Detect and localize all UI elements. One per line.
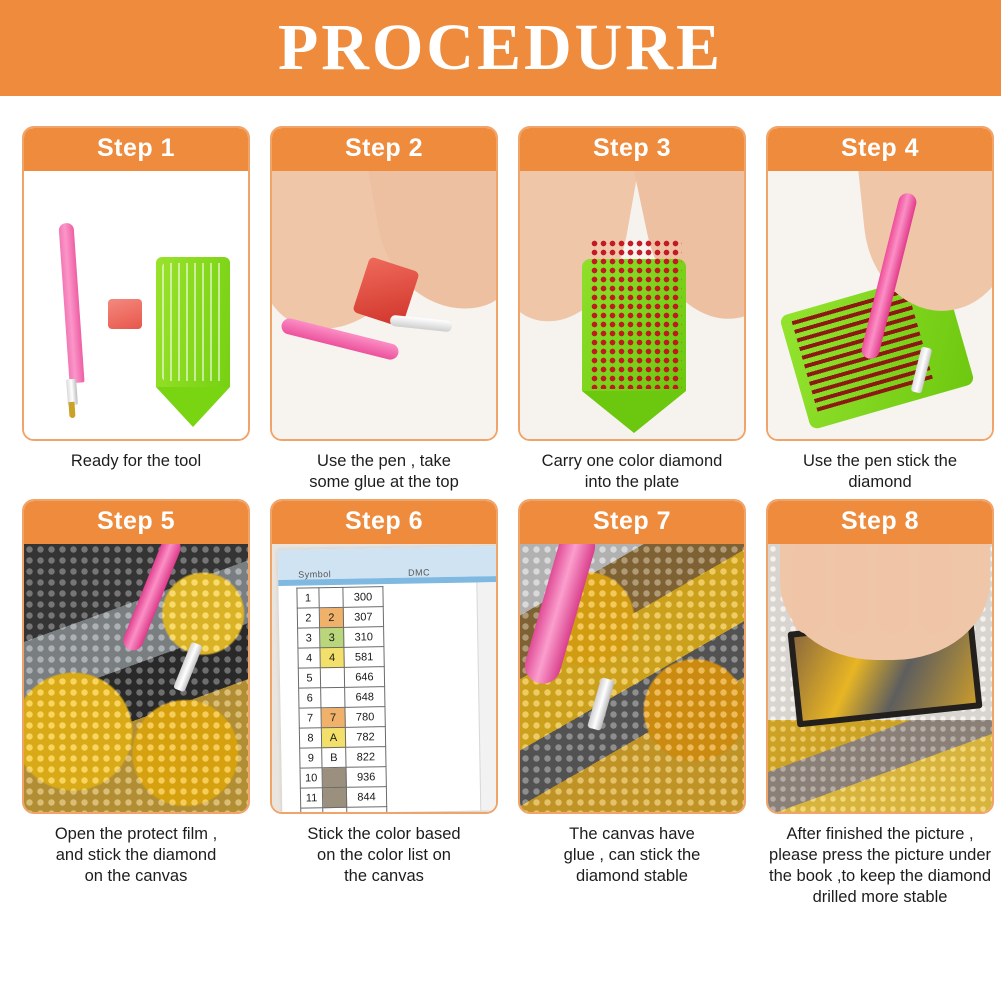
step-1-caption: Ready for the tool — [18, 441, 254, 472]
step-cell-5: Step 5 Open the protect film , and stick… — [18, 499, 254, 908]
chart-row-symbol — [323, 807, 347, 812]
chart-row-symbol — [322, 787, 346, 807]
chart-row-symbol: B — [322, 747, 346, 767]
chart-row-symbol: 3 — [320, 627, 344, 647]
step-3-image — [520, 171, 744, 439]
step-4-header: Step 4 — [768, 128, 992, 171]
chart-row-code: 307 — [343, 607, 383, 628]
step-4-caption: Use the pen stick the diamond — [762, 441, 998, 493]
color-list-table: 130022307333104458156466648777808A7829B8… — [296, 586, 388, 812]
step-7-caption: The canvas have glue , can stick the dia… — [514, 814, 750, 887]
step-2-caption: Use the pen , take some glue at the top — [266, 441, 502, 493]
procedure-page: PROCEDURE Step 1 Ready — [0, 0, 1001, 1001]
chart-row-symbol: A — [321, 727, 345, 747]
chart-row-number: 9 — [300, 748, 322, 768]
chart-row-code: 581 — [344, 647, 384, 668]
step-cell-3: Step 3 Carry one color diamond into the … — [514, 126, 750, 493]
step-card-5: Step 5 — [22, 499, 250, 814]
chart-row-number: 3 — [298, 628, 320, 648]
step-8-caption: After finished the picture , please pres… — [762, 814, 998, 908]
step-2-header: Step 2 — [272, 128, 496, 171]
chart-row-number: 5 — [298, 668, 320, 688]
step-card-7: Step 7 — [518, 499, 746, 814]
step-1-image — [24, 171, 248, 439]
step-6-header: Step 6 — [272, 501, 496, 544]
chart-row-number: 4 — [298, 648, 320, 668]
chart-row-number: 11 — [300, 788, 322, 808]
step-7-image — [520, 544, 744, 812]
step-4-image — [768, 171, 992, 439]
chart-row-number: 10 — [300, 768, 322, 788]
chart-row-symbol: 7 — [321, 707, 345, 727]
table-row: 33310 — [298, 627, 384, 648]
chart-header-left: Symbol — [298, 569, 331, 580]
chart-row-code: 780 — [345, 707, 385, 728]
step-cell-7: Step 7 The canvas have glue , can stick … — [514, 499, 750, 908]
step-cell-2: Step 2 Use the pen , take some glue at t… — [266, 126, 502, 493]
chart-row-number: 8 — [299, 728, 321, 748]
step-card-6: Step 6 Symbol DMC 1300223073331044581564… — [270, 499, 498, 814]
step-5-header: Step 5 — [24, 501, 248, 544]
sunflower-canvas-icon — [768, 720, 992, 812]
chart-row-number: 7 — [299, 708, 321, 728]
chart-row-code: 646 — [344, 667, 384, 688]
step-6-caption: Stick the color based on the color list … — [266, 814, 502, 887]
chart-row-symbol — [322, 767, 346, 787]
step-8-image — [768, 544, 992, 812]
step-cell-8: Step 8 — [762, 499, 998, 908]
step-card-1: Step 1 — [22, 126, 250, 441]
pen-nib-icon — [68, 402, 75, 418]
chart-row-symbol: 4 — [320, 647, 344, 667]
chart-row-code: 310 — [344, 627, 384, 648]
step-8-header: Step 8 — [768, 501, 992, 544]
chart-row-number: 12 — [301, 808, 323, 812]
page-header: PROCEDURE — [0, 0, 1001, 96]
table-row: 77780 — [299, 707, 385, 728]
chart-row-code: 910 — [347, 807, 387, 812]
step-card-2: Step 2 — [270, 126, 498, 441]
table-row: 11844 — [300, 787, 386, 808]
chart-row-code: 822 — [346, 747, 386, 768]
table-row: 22307 — [297, 607, 383, 628]
chart-row-symbol — [319, 587, 343, 607]
chart-row-code: 844 — [346, 787, 386, 808]
step-3-header: Step 3 — [520, 128, 744, 171]
step-card-8: Step 8 — [766, 499, 994, 814]
chart-row-number: 6 — [299, 688, 321, 708]
chart-header-right: DMC — [408, 567, 430, 577]
step-cell-1: Step 1 Ready for the tool — [18, 126, 254, 493]
step-3-caption: Carry one color diamond into the plate — [514, 441, 750, 493]
step-6-image: Symbol DMC 13002230733310445815646664877… — [272, 544, 496, 812]
table-row: 10936 — [300, 767, 386, 788]
table-row: 12910 — [301, 807, 387, 812]
chart-row-symbol — [320, 667, 344, 687]
step-2-image — [272, 171, 496, 439]
steps-grid: Step 1 Ready for the tool — [0, 96, 1001, 908]
tray-grooves-icon — [162, 263, 224, 381]
chart-row-number: 1 — [297, 588, 319, 608]
step-cell-4: Step 4 Use the pen stick the diamond — [762, 126, 998, 493]
color-chart-paper: Symbol DMC 13002230733310445815646664877… — [278, 546, 496, 812]
table-row: 6648 — [299, 687, 385, 708]
step-cell-6: Step 6 Symbol DMC 1300223073331044581564… — [266, 499, 502, 908]
chart-row-symbol: 2 — [319, 607, 343, 627]
chart-row-symbol — [321, 687, 345, 707]
step-7-header: Step 7 — [520, 501, 744, 544]
red-diamonds-icon — [590, 239, 682, 389]
chart-row-code: 782 — [345, 727, 385, 748]
page-title: PROCEDURE — [278, 15, 723, 81]
step-card-4: Step 4 — [766, 126, 994, 441]
chart-row-code: 936 — [346, 767, 386, 788]
step-5-caption: Open the protect film , and stick the di… — [18, 814, 254, 887]
glue-clay-icon — [108, 299, 142, 329]
table-row: 8A782 — [299, 727, 385, 748]
chart-row-number: 2 — [297, 608, 319, 628]
chart-row-code: 300 — [343, 587, 383, 608]
table-row: 5646 — [298, 667, 384, 688]
table-row: 9B822 — [300, 747, 386, 768]
step-5-image — [24, 544, 248, 812]
chart-row-code: 648 — [345, 687, 385, 708]
table-row: 1300 — [297, 587, 383, 608]
step-card-3: Step 3 — [518, 126, 746, 441]
table-row: 44581 — [298, 647, 384, 668]
step-1-header: Step 1 — [24, 128, 248, 171]
